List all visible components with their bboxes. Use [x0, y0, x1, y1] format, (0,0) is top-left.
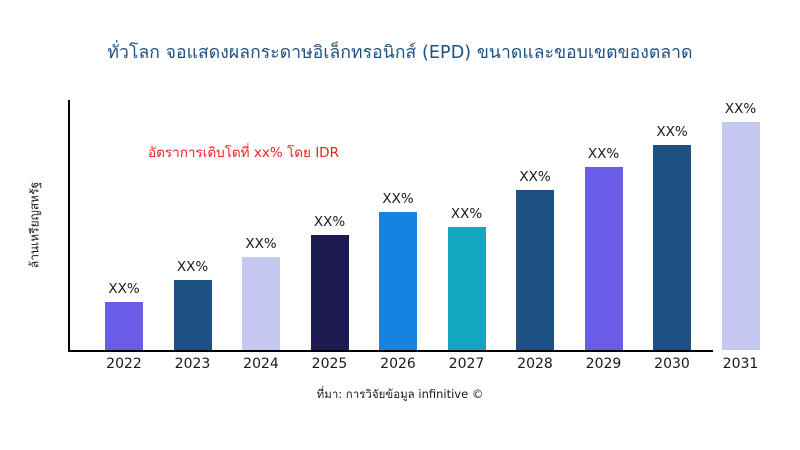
x-tick-label-2028: 2028: [517, 356, 553, 372]
bar-value-label-2031: XX%: [725, 101, 756, 117]
bar-2026[interactable]: [379, 212, 417, 350]
source-note: ที่มา: การวิจัยข้อมูล infinitive ©: [0, 386, 800, 404]
bar-group-2027: XX%2027: [448, 0, 486, 350]
bar-group-2029: XX%2029: [585, 0, 623, 350]
x-tick-label-2030: 2030: [654, 356, 690, 372]
bar-value-label-2024: XX%: [245, 236, 276, 252]
bar-value-label-2029: XX%: [588, 146, 619, 162]
bar-2023[interactable]: [174, 280, 212, 350]
bar-group-2028: XX%2028: [516, 0, 554, 350]
x-tick-label-2024: 2024: [243, 356, 279, 372]
bar-group-2026: XX%2026: [379, 0, 417, 350]
bar-group-2025: XX%2025: [311, 0, 349, 350]
bar-value-label-2030: XX%: [656, 124, 687, 140]
bar-2030[interactable]: [653, 145, 691, 350]
x-tick-label-2022: 2022: [106, 356, 142, 372]
bar-2022[interactable]: [105, 302, 143, 350]
x-tick-label-2025: 2025: [312, 356, 348, 372]
chart-container: ทั่วโลก จอแสดงผลกระดาษอิเล็กทรอนิกส์ (EP…: [0, 0, 800, 450]
bar-group-2022: XX%2022: [105, 0, 143, 350]
x-tick-label-2023: 2023: [175, 356, 211, 372]
bar-group-2023: XX%2023: [174, 0, 212, 350]
bar-value-label-2022: XX%: [108, 281, 139, 297]
bar-value-label-2026: XX%: [382, 191, 413, 207]
bar-2028[interactable]: [516, 190, 554, 350]
bar-value-label-2023: XX%: [177, 259, 208, 275]
bar-group-2030: XX%2030: [653, 0, 691, 350]
y-axis-line: [68, 100, 70, 351]
bar-2029[interactable]: [585, 167, 623, 350]
bar-2031[interactable]: [722, 122, 760, 350]
x-tick-label-2029: 2029: [586, 356, 622, 372]
plot-area: อัตราการเติบโตที่ xx% โดย IDR XX%2022XX%…: [0, 0, 800, 450]
bar-2027[interactable]: [448, 227, 486, 350]
x-tick-label-2027: 2027: [449, 356, 485, 372]
x-tick-label-2026: 2026: [380, 356, 416, 372]
x-axis-line: [68, 350, 713, 352]
bar-group-2024: XX%2024: [242, 0, 280, 350]
bar-value-label-2025: XX%: [314, 214, 345, 230]
bar-value-label-2028: XX%: [519, 169, 550, 185]
bar-group-2031: XX%2031: [722, 0, 760, 350]
x-tick-label-2031: 2031: [723, 356, 759, 372]
bar-2025[interactable]: [311, 235, 349, 350]
bar-2024[interactable]: [242, 257, 280, 350]
bar-value-label-2027: XX%: [451, 206, 482, 222]
